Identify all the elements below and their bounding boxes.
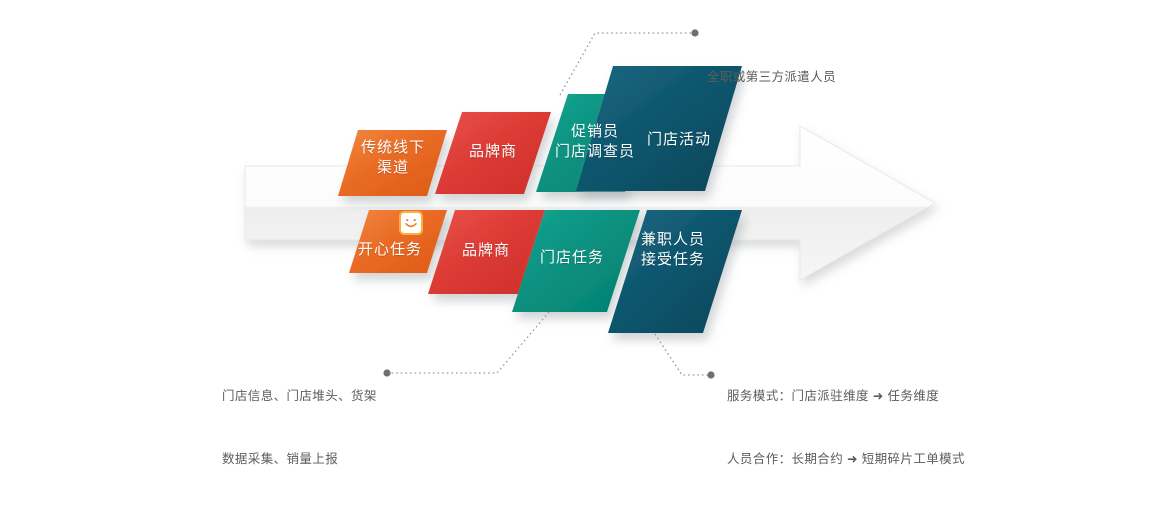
annotation-task-content-line-1: 门店信息、门店堆头、货架 bbox=[222, 386, 377, 407]
annotation-service-model-line-2: 人员合作：长期合约 ➜ 短期碎片工单模式 bbox=[727, 449, 965, 470]
connector-dot-service-model bbox=[707, 371, 714, 378]
annotation-staff-type-line-1: 全职或第三方派遣人员 bbox=[707, 67, 836, 88]
annotation-staff-type: 全职或第三方派遣人员 bbox=[707, 25, 836, 130]
annotation-task-content: 门店信息、门店堆头、货架 数据采集、销量上报 bbox=[222, 344, 377, 512]
connector-task-content bbox=[390, 312, 549, 373]
connector-dot-staff-type bbox=[691, 29, 698, 36]
connector-dot-task-content bbox=[383, 369, 390, 376]
annotation-service-model: 服务模式：门店派驻维度 ➜ 任务维度 人员合作：长期合约 ➜ 短期碎片工单模式 bbox=[727, 344, 965, 512]
diagram-graphics bbox=[0, 0, 1150, 430]
annotation-task-content-line-2: 数据采集、销量上报 bbox=[222, 449, 377, 470]
diagram-canvas: 传统线下 渠道 品牌商 促销员 门店调查员 门店活动 开心任务 品牌商 门店任务… bbox=[0, 0, 1150, 430]
smiley-logo-icon bbox=[399, 211, 423, 235]
annotation-service-model-line-1: 服务模式：门店派驻维度 ➜ 任务维度 bbox=[727, 386, 965, 407]
connector-service-model bbox=[655, 334, 709, 375]
